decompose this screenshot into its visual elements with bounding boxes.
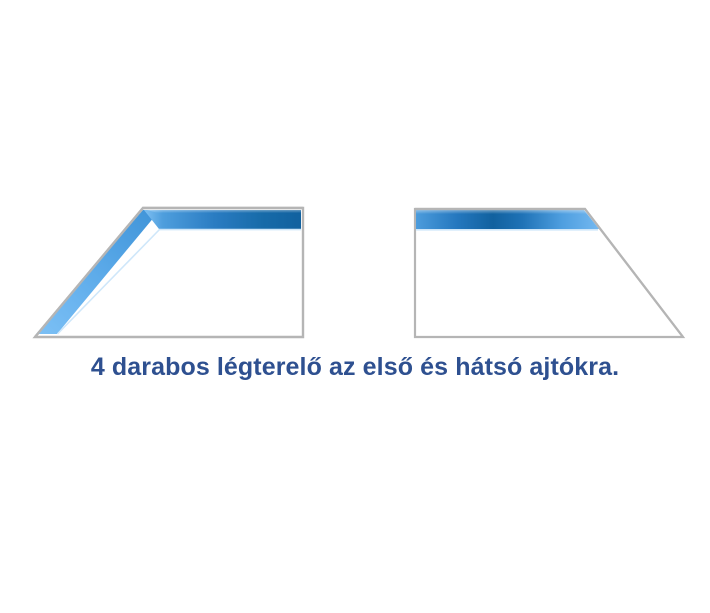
product-caption: 4 darabos légterelő az első és hátsó ajt… bbox=[0, 352, 710, 382]
product-figure: 4 darabos légterelő az első és hátsó ajt… bbox=[0, 0, 710, 613]
rear-door-deflector-group bbox=[415, 209, 683, 337]
front-door-deflector-group bbox=[35, 208, 303, 337]
rear-door-accent-highlight bbox=[416, 210, 588, 215]
front-door-accent-highlight bbox=[143, 209, 302, 213]
deflector-illustration bbox=[0, 0, 710, 613]
